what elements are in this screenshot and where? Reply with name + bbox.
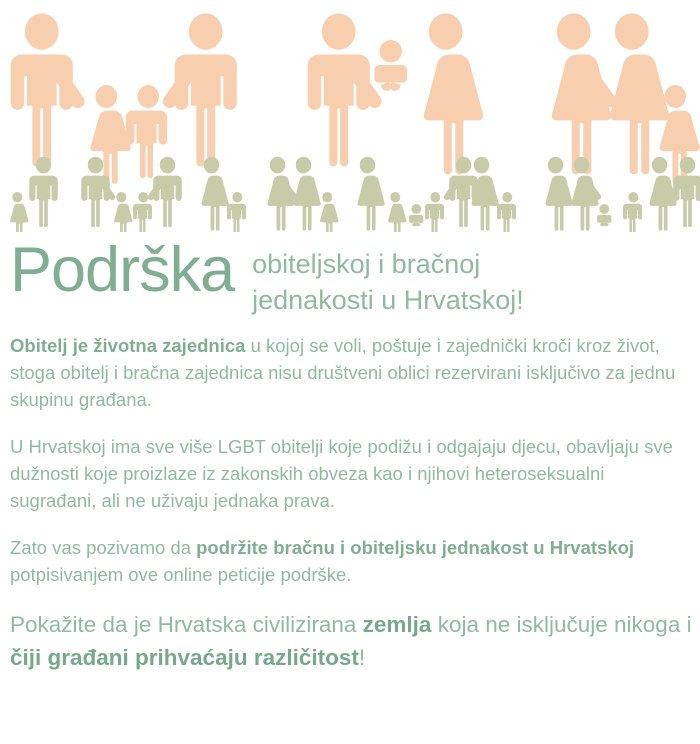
title-subtitle-line-1: obiteljskoj i bračnoj [252,246,524,282]
group-two-mothers-daughter [552,13,700,183]
group-father-baby-mother [308,13,483,174]
group-mother-with-son-6 [471,157,516,232]
page-title: Podrška obiteljskoj i bračnoj jednakosti… [0,232,700,318]
body-copy: Obitelj je životna zajednica u kojoj se … [0,318,700,674]
paragraph-3: Zato vas pozivamo da podržite bračnu i o… [10,534,692,588]
family-pictogram-banner [0,0,700,232]
title-subtitle-line-2: jednakosti u Hrvatskoj! [252,282,524,318]
poster-page: Podrška obiteljskoj i bračnoj jednakosti… [0,0,700,744]
title-subtitle: obiteljskoj i bračnoj jednakosti u Hrvat… [252,246,524,318]
paragraph-1: Obitelj je životna zajednica u kojoj se … [10,332,692,413]
paragraph-4: Pokažite da je Hrvatska civilizirana zem… [10,608,692,674]
group-two-mothers-daughter-4 [267,157,338,232]
paragraph-2: U Hrvatskoj ima sve više LGBT obitelji k… [10,433,692,514]
group-two-fathers-two-children-2 [81,157,182,232]
group-mother-with-son-3 [201,157,246,232]
group-mother-children-father-5 [357,157,477,232]
group-father-with-daughter-1 [10,157,58,232]
title-main-word: Podrška [10,236,234,304]
pictogram-svg [0,0,700,232]
top-row-peach-figures [11,13,700,183]
group-two-mothers-baby-7 [545,157,611,231]
